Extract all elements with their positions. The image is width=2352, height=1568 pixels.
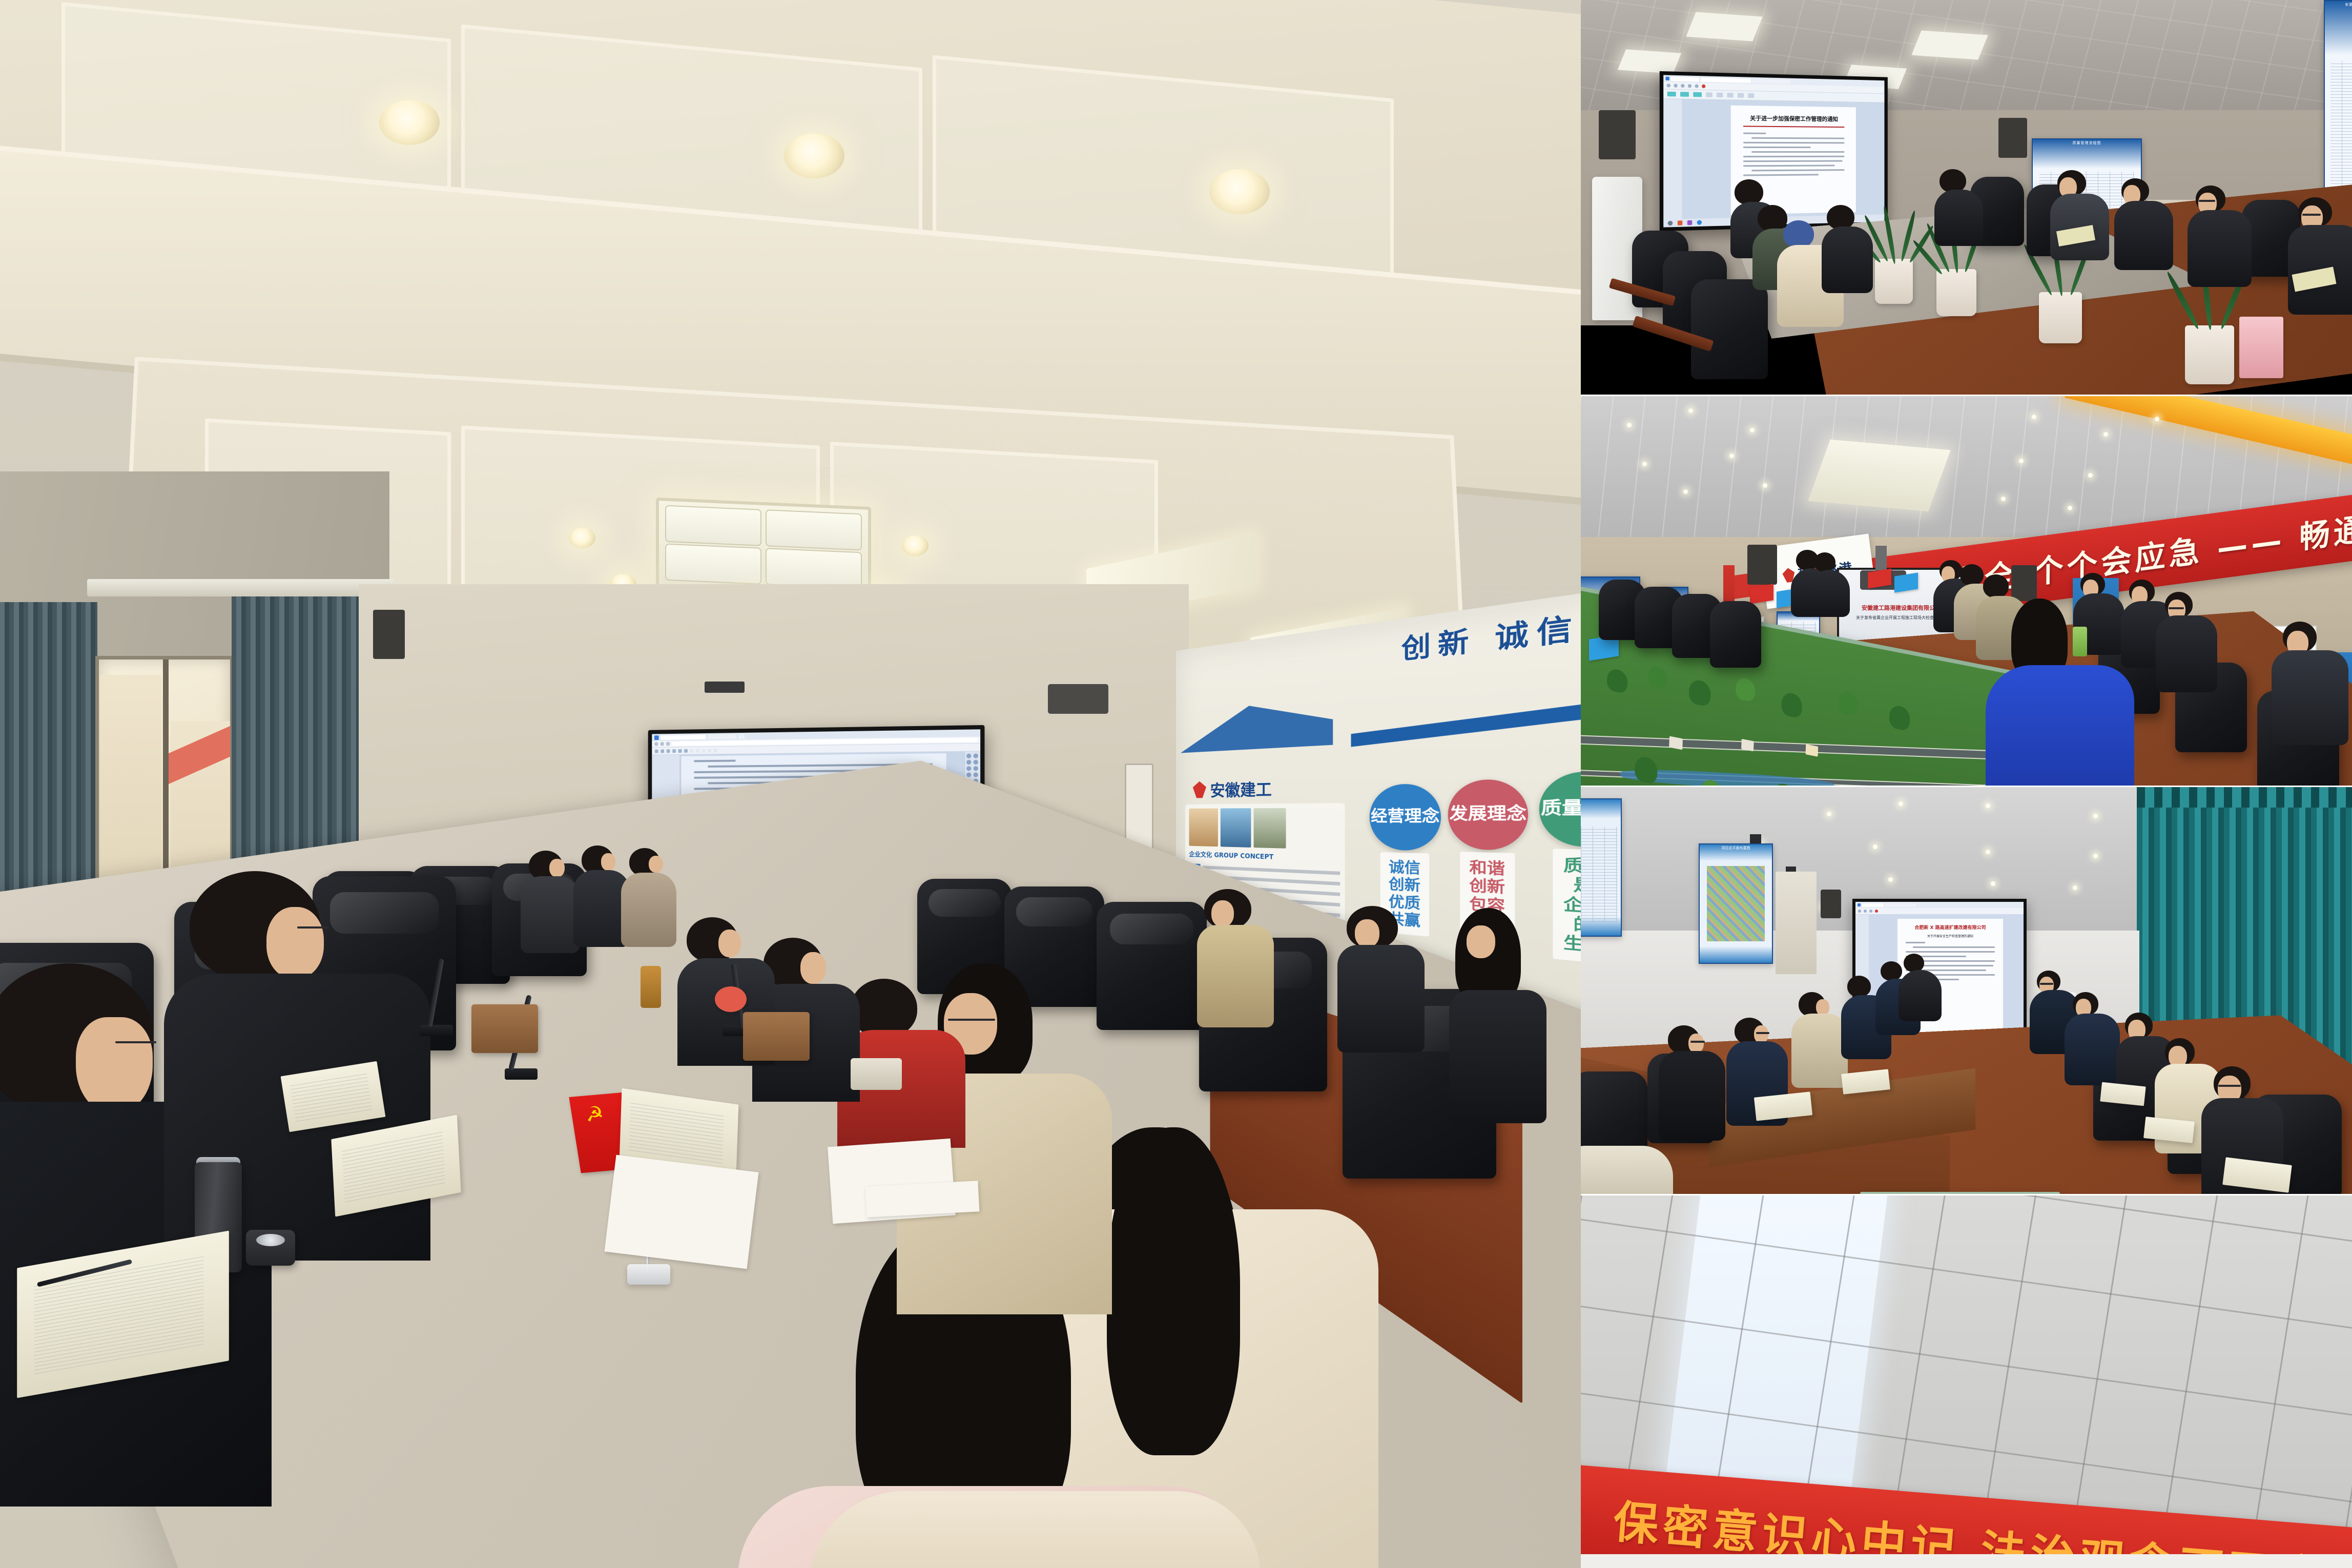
document-title: 合肥新 X 路高速扩建改建有限公司 [1906,924,1995,931]
board-photo [1189,809,1218,847]
photo-collage: 创新 诚信 合作 安徽建工 企业文化 GROUP CONCEPT [0,0,2352,1568]
ceiling-downlight [1209,169,1270,214]
papers [865,1181,980,1217]
door[interactable] [1776,872,1817,974]
main-meeting-room-photo: 创新 诚信 合作 安徽建工 企业文化 GROUP CONCEPT [0,0,1581,1568]
ceiling-downlight [379,100,440,145]
bottle [641,966,661,1008]
papers [604,1155,758,1269]
wooden-box [471,1004,538,1053]
culture-badge-title: 发展理念 [1448,779,1528,851]
wall-board-site-plan: 项目总平面布置图 [1699,843,1773,964]
eyeglasses-icon [1756,1032,1769,1034]
microphone-base [505,1068,538,1080]
eyeglasses-icon [2199,200,2215,202]
culture-badge-title: 经营理念 [1370,783,1441,852]
poster-title: 安徽建工 总体施工进度计划表 [2325,1,2352,7]
eyeglasses-icon [115,1041,156,1043]
panel-confidentiality-banner: 保密意识心中记 法治观念不可弃 安徽建工集团控股集团有限公司合肥分公司·保密宣传… [1581,1194,2352,1568]
hammer-and-sickle-icon: ☭ [584,1103,610,1127]
wall-board-progress [1581,798,1622,937]
company-logo-text: 安徽建工 [1210,776,1272,801]
tissue-box [2239,317,2283,378]
eyeglasses-icon [2040,983,2053,985]
poster-title: 质量管理流程图 [2033,139,2141,146]
culture-badge-lines: 质量是 企业的 生命 [1553,849,1581,964]
culture-wall-blue-bar [1351,692,1581,747]
panel-conference-document-briefing: 关于进一步加强保密工作管理的通知 [1581,0,2352,395]
red-object [715,986,747,1012]
document-outline-pane[interactable] [1663,99,1682,219]
board-photo [1221,808,1251,848]
wall-speaker [373,610,405,659]
coat-fur-collar [810,1491,1261,1568]
wall-speaker [1599,110,1636,159]
wall-speaker [1998,118,2027,158]
conference-chair[interactable] [1097,902,1207,1030]
culture-badge-quality: 质量理念 质量是 企业的 生命 [1539,771,1581,966]
culture-wall-roof-graphic [1181,698,1333,753]
eyeglasses-icon [2302,214,2321,216]
desk-item [851,1058,902,1090]
eyeglasses-icon [948,1019,995,1021]
panel-safety-production-month-meeting: 人人讲安全 个个会应急 —— 畅通 建工路港 诚信为本 敬业至上 诚信 建工路港 [1581,395,2352,786]
right-photo-column: 关于进一步加强保密工作管理的通知 [1581,0,2352,1568]
wall-speaker [2011,565,2037,601]
conference-chair[interactable] [1691,279,1768,379]
board-photo [1254,808,1286,849]
wooden-box [743,1012,810,1061]
beverage-bottle [2073,627,2087,656]
company-logo: 安徽建工 [1193,776,1272,801]
flag-stand-base [627,1264,670,1285]
anhui-jiangong-logo-icon [1193,781,1206,798]
wall-speaker [1747,545,1777,585]
ceiling-downlight [784,133,844,178]
projector-mount [705,682,745,693]
conference-chair[interactable] [1710,601,1761,668]
ceiling-chandelier [656,498,871,596]
eyeglasses-icon [297,926,329,929]
board-title: 项目总平面布置图 [1700,844,1772,851]
document-title: 关于进一步加强保密工作管理的通知 [1743,114,1844,128]
wall-speaker [1048,684,1108,714]
culture-badge-title: 质量理念 [1539,771,1581,848]
panel-project-review-meeting: 项目总平面布置图 [1581,786,2352,1194]
eyeglasses-icon [2169,607,2184,609]
board-caption: 企业文化 GROUP CONCEPT [1189,850,1340,864]
wall-speaker [1821,890,1841,918]
eyeglasses-icon [1690,1041,1705,1043]
eyeglasses-icon [2218,1085,2241,1087]
document-subtitle: 关于开展安全生产检查管理的通知 [1906,934,1995,938]
microphone-base [420,1025,453,1036]
